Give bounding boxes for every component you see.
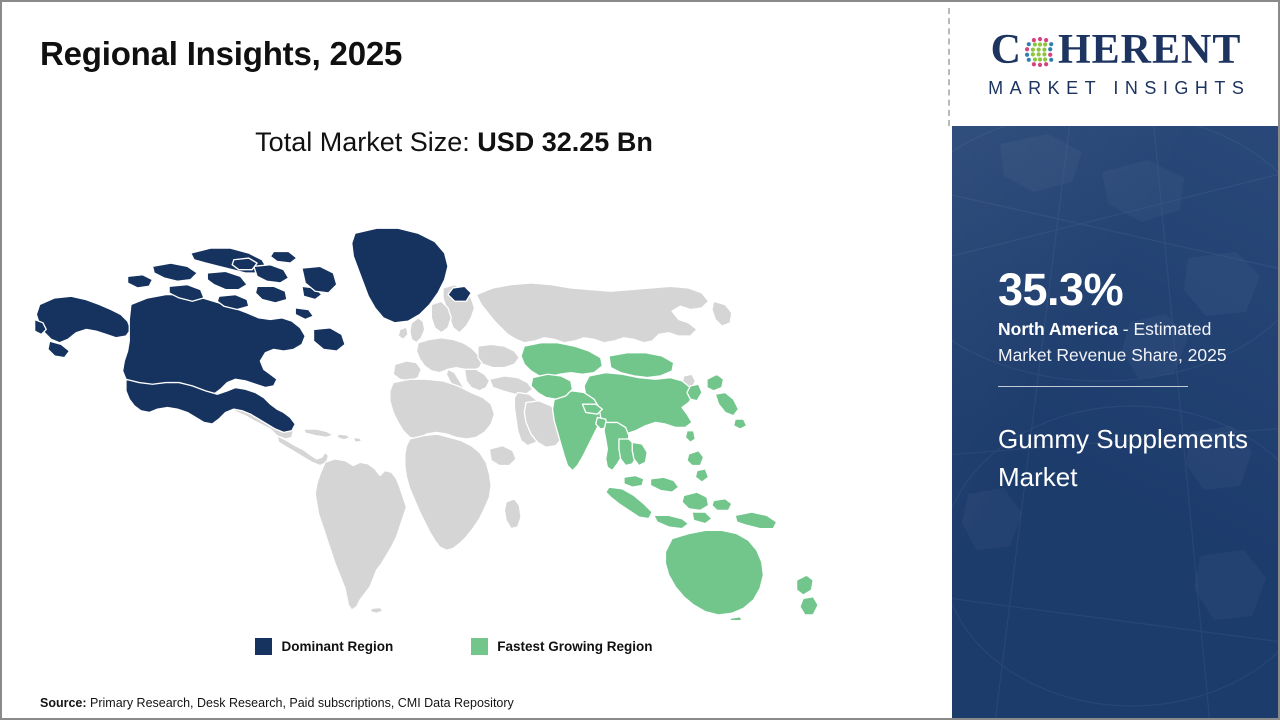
legend-item-fastest-growing: Fastest Growing Region xyxy=(471,638,652,655)
highlight-panel: 35.3% North America - Estimated Market R… xyxy=(952,126,1280,720)
infographic-canvas: Regional Insights, 2025 Total Market Siz… xyxy=(0,0,1280,720)
world-map-svg xyxy=(28,180,858,620)
square-swatch-icon xyxy=(471,638,488,655)
source-text: Primary Research, Desk Research, Paid su… xyxy=(87,696,514,710)
source-label: Source: xyxy=(40,696,87,710)
legend-item-dominant: Dominant Region xyxy=(255,638,393,655)
panel-content: 35.3% North America - Estimated Market R… xyxy=(998,266,1248,496)
legend-label-dominant: Dominant Region xyxy=(281,639,393,654)
world-map xyxy=(28,180,858,620)
left-content-pane: Regional Insights, 2025 Total Market Siz… xyxy=(2,2,950,718)
map-region-asia-pacific xyxy=(521,343,818,620)
vertical-dashed-divider xyxy=(948,8,950,126)
square-swatch-icon xyxy=(255,638,272,655)
panel-divider-rule xyxy=(998,386,1188,387)
stat-region-name: North America xyxy=(998,319,1118,339)
legend-label-fastest-growing: Fastest Growing Region xyxy=(497,639,652,654)
market-name: Gummy Supplements Market xyxy=(998,421,1248,496)
globe-dots-icon xyxy=(1023,35,1057,69)
brand-tagline: MARKET INSIGHTS xyxy=(982,78,1251,99)
brand-letters-herent: HERENT xyxy=(1058,29,1241,71)
map-legend: Dominant Region Fastest Growing Region xyxy=(2,638,906,655)
brand-wordmark: C xyxy=(991,29,1242,71)
total-market-size: Total Market Size: USD 32.25 Bn xyxy=(2,127,906,158)
stat-value: 35.3% xyxy=(998,266,1248,313)
market-size-label: Total Market Size: xyxy=(255,127,477,157)
stat-description: North America - Estimated Market Revenue… xyxy=(998,317,1248,368)
market-size-value: USD 32.25 Bn xyxy=(477,127,653,157)
brand-letter-c: C xyxy=(991,29,1022,71)
source-note: Source: Primary Research, Desk Research,… xyxy=(40,696,514,710)
brand-logo: C xyxy=(952,2,1280,126)
page-title: Regional Insights, 2025 xyxy=(40,35,402,73)
